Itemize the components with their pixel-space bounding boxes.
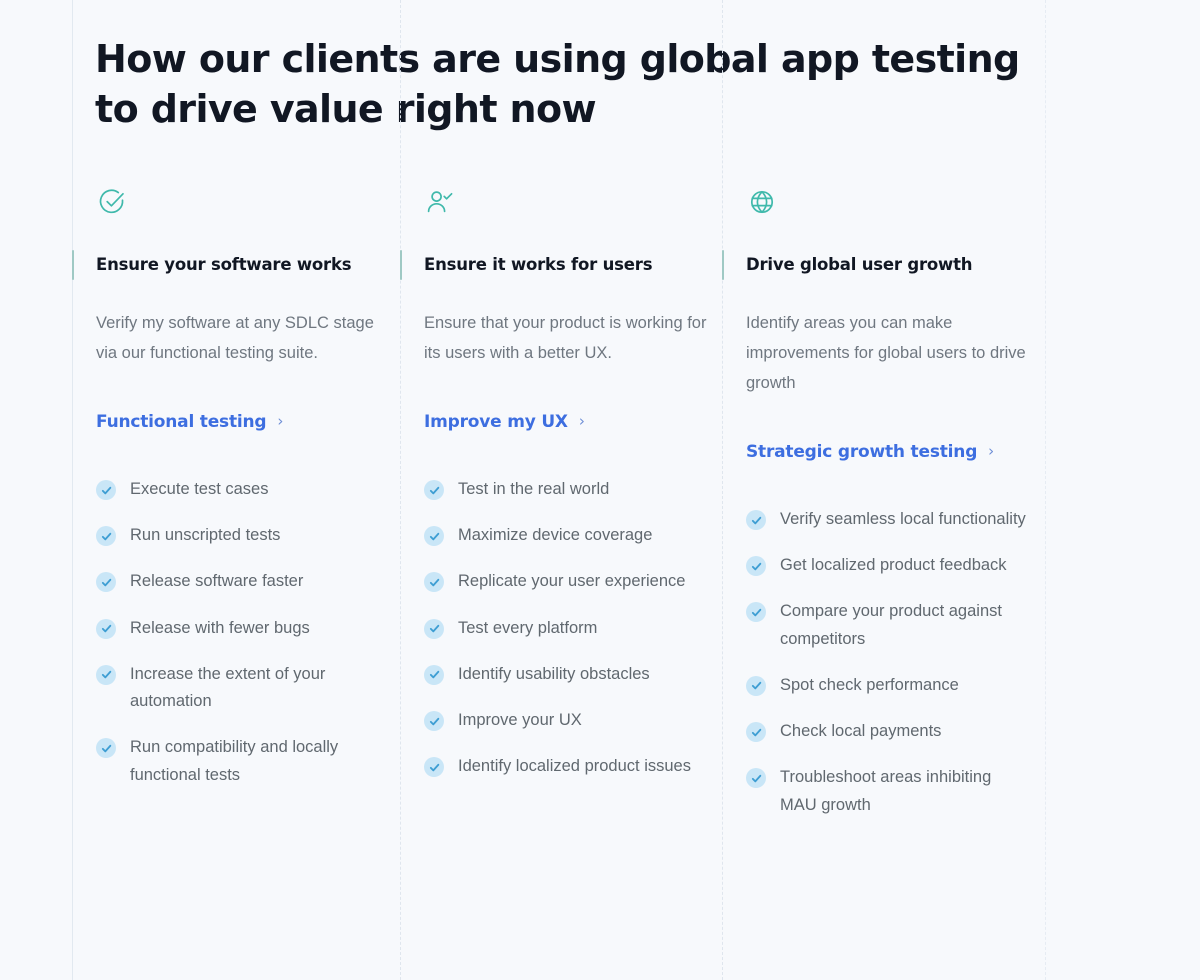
- list-item: Check local payments: [746, 718, 1045, 745]
- column-checklist: Verify seamless local functionality Get …: [746, 506, 1045, 819]
- check-icon: [746, 510, 766, 530]
- feature-column-strategic-growth: Drive global user growth Identify areas …: [722, 186, 1045, 838]
- list-item-label: Improve your UX: [458, 707, 582, 734]
- check-icon: [424, 757, 444, 777]
- column-heading-row: Ensure it works for users: [400, 248, 722, 282]
- list-item: Replicate your user experience: [424, 568, 722, 595]
- list-item: Maximize device coverage: [424, 522, 722, 549]
- list-item-label: Spot check performance: [780, 672, 959, 699]
- check-icon: [96, 480, 116, 500]
- column-description: Verify my software at any SDLC stage via…: [96, 308, 386, 368]
- list-item-label: Release with fewer bugs: [130, 615, 310, 642]
- list-item: Test in the real world: [424, 476, 722, 503]
- list-item-label: Replicate your user experience: [458, 568, 685, 595]
- check-icon: [746, 722, 766, 742]
- column-heading: Drive global user growth: [746, 255, 972, 275]
- check-icon: [424, 665, 444, 685]
- column-description: Ensure that your product is working for …: [424, 308, 714, 368]
- list-item: Get localized product feedback: [746, 552, 1045, 579]
- check-icon: [746, 768, 766, 788]
- user-check-icon: [424, 186, 722, 226]
- list-item: Troubleshoot areas inhibiting MAU growth: [746, 764, 1045, 818]
- list-item-label: Troubleshoot areas inhibiting MAU growth: [780, 764, 1030, 818]
- list-item: Run unscripted tests: [96, 522, 400, 549]
- list-item: Increase the extent of your automation: [96, 661, 400, 715]
- list-item: Identify localized product issues: [424, 753, 722, 780]
- page-root: How our clients are using global app tes…: [0, 0, 1200, 980]
- list-item: Verify seamless local functionality: [746, 506, 1045, 533]
- check-icon: [424, 572, 444, 592]
- check-icon: [424, 711, 444, 731]
- column-heading-row: Ensure your software works: [72, 248, 400, 282]
- check-icon: [746, 602, 766, 622]
- column-heading: Ensure it works for users: [424, 255, 652, 275]
- check-icon: [424, 526, 444, 546]
- list-item-label: Get localized product feedback: [780, 552, 1007, 579]
- feature-column-functional-testing: Ensure your software works Verify my sof…: [72, 186, 400, 838]
- globe-icon: [746, 186, 1045, 226]
- list-item: Compare your product against competitors: [746, 598, 1045, 652]
- check-icon: [96, 526, 116, 546]
- list-item-label: Execute test cases: [130, 476, 269, 503]
- list-item-label: Compare your product against competitors: [780, 598, 1030, 652]
- improve-my-ux-link[interactable]: Improve my UX ›: [424, 412, 585, 432]
- heading-accent-bar: [72, 250, 74, 280]
- feature-column-improve-ux: Ensure it works for users Ensure that yo…: [400, 186, 722, 838]
- list-item-label: Verify seamless local functionality: [780, 506, 1026, 533]
- heading-accent-bar: [722, 250, 724, 280]
- list-item: Execute test cases: [96, 476, 400, 503]
- strategic-growth-testing-link[interactable]: Strategic growth testing ›: [746, 442, 994, 462]
- check-circle-icon: [96, 186, 400, 226]
- link-label: Strategic growth testing: [746, 442, 977, 462]
- list-item: Release software faster: [96, 568, 400, 595]
- heading-accent-bar: [400, 250, 402, 280]
- list-item-label: Maximize device coverage: [458, 522, 652, 549]
- column-description: Identify areas you can make improvements…: [746, 308, 1036, 398]
- list-item-label: Identify localized product issues: [458, 753, 691, 780]
- check-icon: [96, 619, 116, 639]
- link-label: Functional testing: [96, 412, 266, 432]
- functional-testing-link[interactable]: Functional testing ›: [96, 412, 283, 432]
- list-item: Identify usability obstacles: [424, 661, 722, 688]
- link-label: Improve my UX: [424, 412, 568, 432]
- list-item-label: Test every platform: [458, 615, 597, 642]
- column-heading: Ensure your software works: [96, 255, 351, 275]
- list-item-label: Release software faster: [130, 568, 303, 595]
- list-item-label: Increase the extent of your automation: [130, 661, 380, 715]
- list-item: Release with fewer bugs: [96, 615, 400, 642]
- page-title: How our clients are using global app tes…: [95, 34, 1025, 134]
- list-item-label: Identify usability obstacles: [458, 661, 650, 688]
- column-checklist: Execute test cases Run unscripted tests: [96, 476, 400, 789]
- list-item: Spot check performance: [746, 672, 1045, 699]
- check-icon: [746, 676, 766, 696]
- chevron-right-icon: ›: [277, 414, 283, 429]
- check-icon: [746, 556, 766, 576]
- column-checklist: Test in the real world Maximize device c…: [424, 476, 722, 781]
- list-item-label: Test in the real world: [458, 476, 609, 503]
- chevron-right-icon: ›: [988, 444, 994, 459]
- check-icon: [96, 572, 116, 592]
- list-item: Run compatibility and locally functional…: [96, 734, 400, 788]
- list-item-label: Check local payments: [780, 718, 941, 745]
- check-icon: [96, 738, 116, 758]
- list-item-label: Run unscripted tests: [130, 522, 280, 549]
- column-heading-row: Drive global user growth: [722, 248, 1045, 282]
- list-item: Test every platform: [424, 615, 722, 642]
- chevron-right-icon: ›: [579, 414, 585, 429]
- check-icon: [424, 619, 444, 639]
- list-item-label: Run compatibility and locally functional…: [130, 734, 380, 788]
- list-item: Improve your UX: [424, 707, 722, 734]
- check-icon: [96, 665, 116, 685]
- check-icon: [424, 480, 444, 500]
- feature-columns: Ensure your software works Verify my sof…: [0, 186, 1200, 838]
